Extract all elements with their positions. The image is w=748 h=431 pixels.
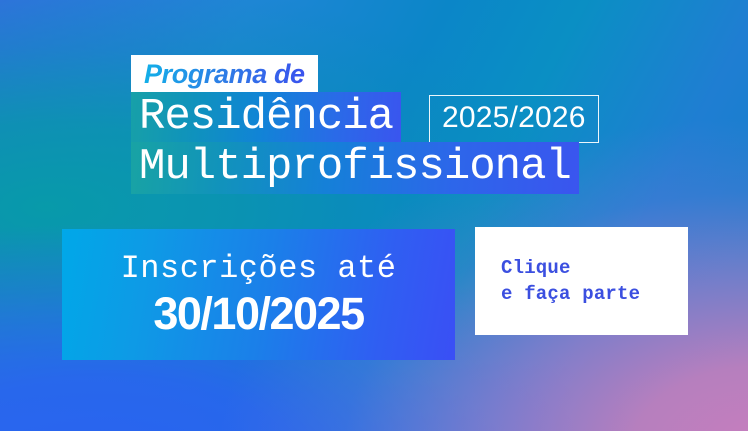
promo-banner: Programa de Residência 2025/2026 Multipr… bbox=[0, 0, 748, 431]
title-line-2-row: Multiprofissional bbox=[131, 142, 579, 194]
title-line-1: Residência bbox=[131, 92, 401, 144]
title-line-1-row: Residência bbox=[131, 92, 401, 144]
cta-label-line-1: Clique bbox=[501, 257, 688, 280]
title-line-2: Multiprofissional bbox=[131, 142, 579, 194]
deadline-date: 30/10/2025 bbox=[153, 289, 363, 338]
cta-button[interactable]: Clique e faça parte bbox=[475, 227, 688, 335]
deadline-label: Inscrições até bbox=[121, 251, 397, 287]
deadline-panel: Inscrições até 30/10/2025 bbox=[62, 229, 455, 360]
cta-label-line-2: e faça parte bbox=[501, 283, 688, 306]
year-badge: 2025/2026 bbox=[429, 95, 599, 143]
banner-content: Programa de Residência 2025/2026 Multipr… bbox=[0, 0, 748, 431]
kicker-chip: Programa de bbox=[131, 55, 318, 95]
kicker-text: Programa de bbox=[144, 59, 305, 89]
